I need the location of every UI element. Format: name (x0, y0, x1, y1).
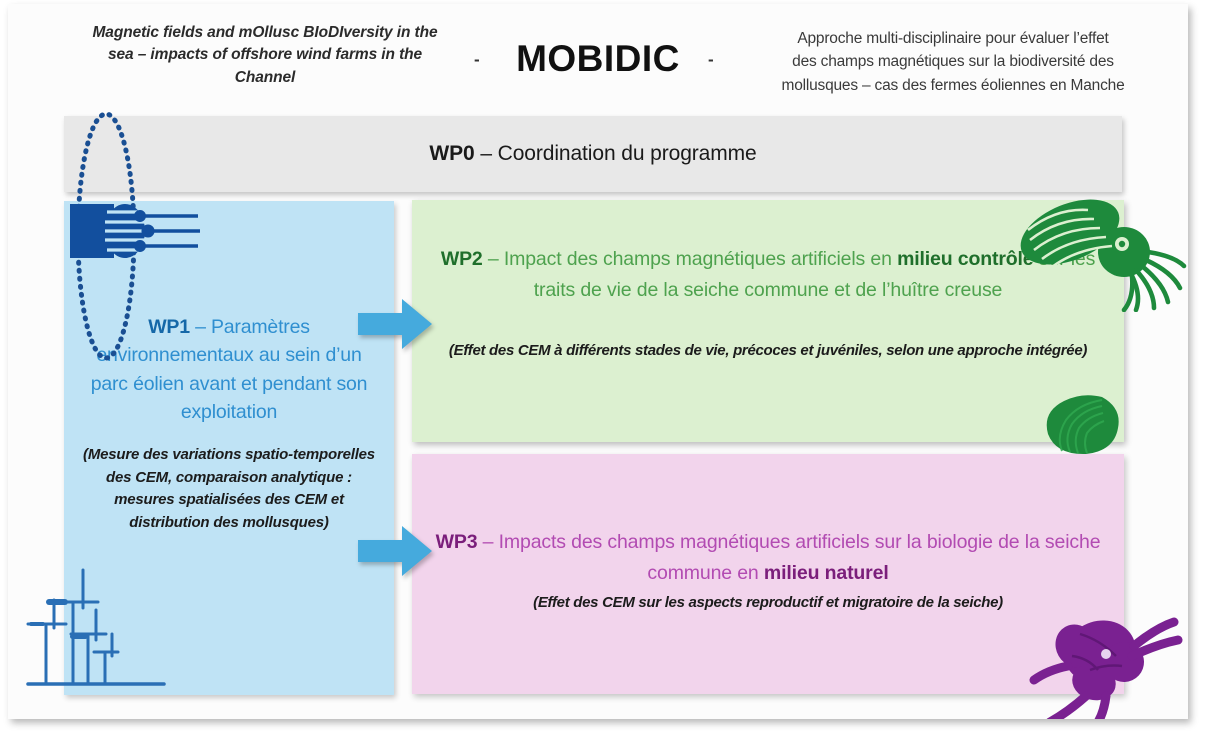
wp1-title: WP1 – Paramètres environnementaux au sei… (78, 313, 380, 426)
poster-header: Magnetic fields and mOllusc BIoDIversity… (8, 10, 1188, 110)
wp2-title: WP2 – Impact des champs magnétiques arti… (430, 244, 1106, 306)
wp0-text: WP0 – Coordination du programme (429, 142, 756, 166)
wp3-title-bold: milieu naturel (764, 562, 889, 584)
wp1-subtitle: (Mesure des variations spatio-temporelle… (78, 444, 380, 534)
wp2-title-part1: Impact des champs magnétiques artificiel… (504, 248, 897, 270)
poster-card: Magnetic fields and mOllusc BIoDIversity… (8, 4, 1188, 719)
wp3-separator: – (477, 531, 498, 553)
wp1-separator: – (190, 316, 211, 338)
project-title-english-line3: Channel (235, 69, 295, 86)
wp3-box[interactable]: WP3 – Impacts des champs magnétiques art… (412, 454, 1124, 694)
wp0-separator: – (475, 142, 498, 165)
project-title-french-line3: mollusques – cas des fermes éoliennes en… (782, 77, 1125, 94)
right-arrow-icon (356, 296, 434, 352)
project-title-french-line2: des champs magnétiques sur la biodiversi… (792, 53, 1114, 70)
dash-separator-right: - (708, 50, 714, 70)
right-arrow-icon (356, 523, 434, 579)
wp3-subtitle: (Effet des CEM sur les aspects reproduct… (430, 592, 1106, 615)
wp2-subtitle: (Effet des CEM à différents stades de vi… (430, 340, 1106, 363)
wp0-box[interactable]: WP0 – Coordination du programme (64, 116, 1122, 192)
project-title-english-line1: Magnetic fields and mOllusc BIoDIversity… (93, 24, 438, 41)
project-acronym: MOBIDIC (463, 38, 733, 80)
wp2-separator: – (483, 248, 504, 270)
wp0-code: WP0 (429, 142, 474, 165)
wp3-code: WP3 (436, 531, 478, 553)
wp1-code: WP1 (148, 316, 190, 338)
project-title-english-line2: sea – impacts of offshore wind farms in … (108, 46, 422, 63)
project-title-english: Magnetic fields and mOllusc BIoDIversity… (70, 22, 460, 89)
project-title-french-line1: Approche multi-disciplinaire pour évalue… (797, 30, 1108, 47)
wp2-code: WP2 (441, 248, 483, 270)
wp3-title: WP3 – Impacts des champs magnétiques art… (430, 527, 1106, 589)
wp1-title-text: Paramètres environnementaux au sein d’un… (91, 316, 368, 423)
project-title-french: Approche multi-disciplinaire pour évalue… (743, 27, 1163, 97)
wp1-box[interactable]: WP1 – Paramètres environnementaux au sei… (64, 201, 394, 695)
wp0-label: Coordination du programme (498, 142, 757, 165)
wp2-box[interactable]: WP2 – Impact des champs magnétiques arti… (412, 200, 1124, 442)
wp2-title-bold: milieu contrôlé (897, 248, 1033, 270)
